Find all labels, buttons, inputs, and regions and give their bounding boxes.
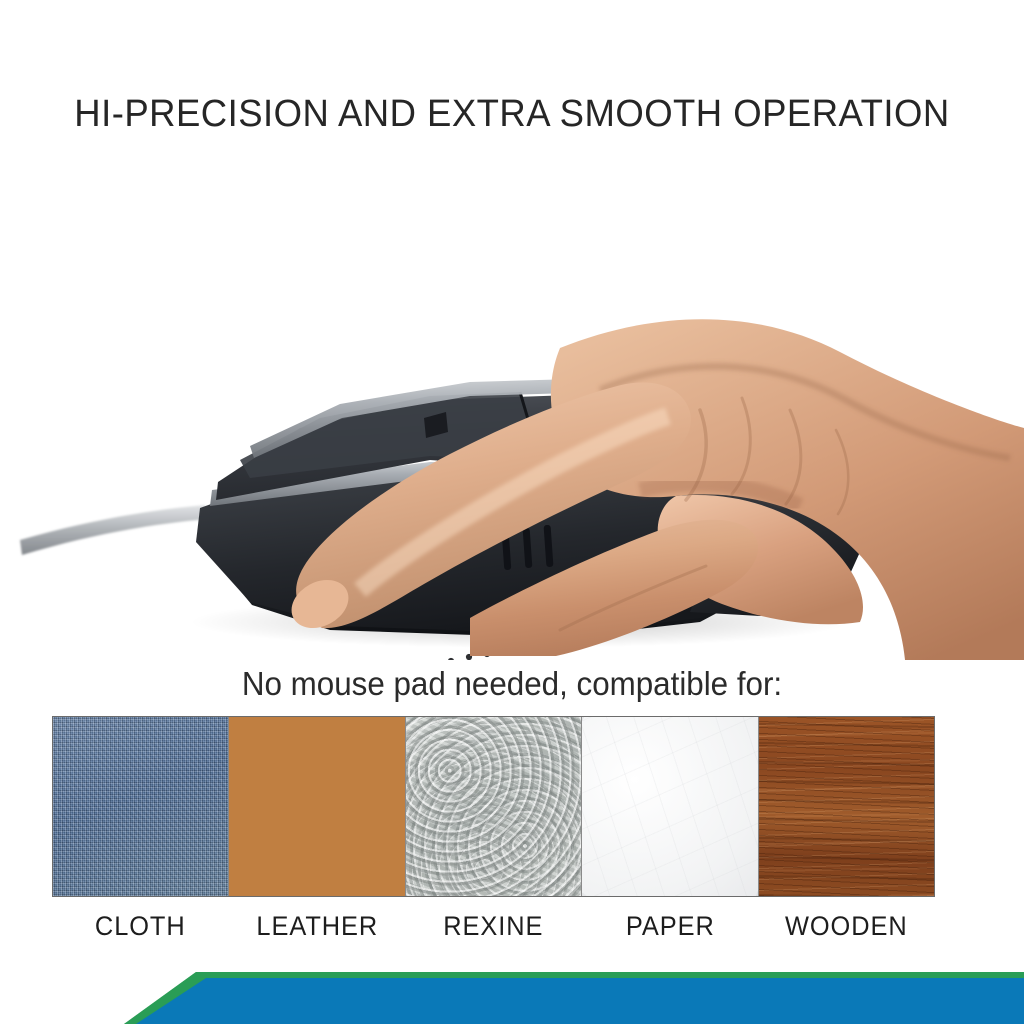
swatch-wooden [759, 717, 934, 896]
bottom-banner [0, 960, 1024, 1024]
swatch-paper [582, 717, 758, 896]
banner-blue-body [136, 978, 1024, 1024]
surface-label-rexine: REXINE [410, 904, 576, 948]
surface-label-leather: LEATHER [234, 904, 400, 948]
swatch-leather [229, 717, 405, 896]
surface-label-cloth: CLOTH [57, 904, 223, 948]
surface-swatch-strip [52, 716, 935, 897]
page-headline: HI-PRECISION AND EXTRA SMOOTH OPERATION [20, 92, 1003, 136]
hero-product-photo [0, 160, 1024, 660]
compatibility-subtitle: No mouse pad needed, compatible for: [26, 664, 999, 704]
swatch-cloth [53, 717, 229, 896]
surface-label-row: CLOTH LEATHER REXINE PAPER WOODEN [52, 904, 935, 948]
surface-label-wooden: WOODEN [764, 904, 930, 948]
swatch-rexine [406, 717, 582, 896]
surface-label-paper: PAPER [587, 904, 753, 948]
